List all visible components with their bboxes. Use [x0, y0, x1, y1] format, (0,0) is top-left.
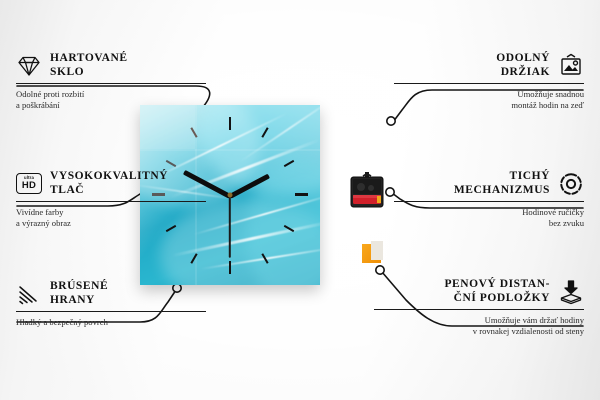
feature-title: VYSOKOKVALITNÝ — [50, 170, 168, 184]
feature-title-2: ČNÍ PODLOŽKY — [444, 292, 550, 306]
feature-desc: Odolné proti rozbití — [16, 89, 206, 100]
connector-dot-foam — [376, 266, 384, 274]
feature-ground-edges: BRÚSENÉ HRANY Hladký a bezpečný povrch — [16, 280, 206, 328]
feature-desc: Hodinové ručičky — [394, 207, 584, 218]
badge-hd-text: HD — [22, 181, 36, 191]
clock-center-cap — [228, 193, 233, 198]
connector-dot-mechanism — [386, 188, 394, 196]
feature-desc: Umožňuje snadnou — [394, 89, 584, 100]
ground-edges-icon — [16, 281, 42, 307]
foam-pad-icon — [558, 279, 584, 305]
feature-desc-2: a výrazný obraz — [16, 218, 206, 229]
feature-title-2: MECHANIZMUS — [454, 184, 550, 198]
feature-title-2: TLAČ — [50, 184, 168, 198]
divider — [394, 201, 584, 202]
divider — [394, 83, 584, 84]
feature-desc: Umožňuje vám držať hodiny — [374, 315, 584, 326]
second-hand — [229, 196, 231, 258]
feature-desc-2: a poškrábání — [16, 100, 206, 111]
feature-title: BRÚSENÉ — [50, 280, 108, 294]
wall-hanger-icon — [558, 53, 584, 79]
divider — [374, 309, 584, 310]
hour-hand — [229, 174, 270, 199]
ultra-hd-badge-icon: ultra HD — [16, 173, 42, 194]
feature-silent-mechanism: TICHÝ MECHANIZMUS Hodinové ručičky bez z… — [394, 170, 584, 228]
feature-desc-2: montáž hodin na zeď — [394, 100, 584, 111]
feature-desc-2: bez zvuku — [394, 218, 584, 229]
feature-title: TICHÝ — [454, 170, 550, 184]
feature-title-2: DRŽIAK — [496, 66, 550, 80]
feature-desc: Vivídne farby — [16, 207, 206, 218]
gear-icon — [558, 171, 584, 197]
feature-desc-2: v rovnakej vzdialenosti od steny — [374, 326, 584, 337]
feature-title-2: HRANY — [50, 294, 108, 308]
divider — [16, 83, 206, 84]
diamond-icon — [16, 53, 42, 79]
feature-title: PENOVÝ DISTAN- — [444, 278, 550, 292]
clock-mechanism — [348, 172, 386, 212]
feature-title: ODOLNÝ — [496, 52, 550, 66]
feature-hd-print: ultra HD VYSOKOKVALITNÝ TLAČ Vivídne far… — [16, 170, 206, 228]
divider — [16, 311, 206, 312]
feature-desc: Hladký a bezpečný povrch — [16, 317, 206, 328]
connector-dot-holder — [387, 117, 395, 125]
feature-foam-pads: PENOVÝ DISTAN- ČNÍ PODLOŽKY Umožňuje vám… — [374, 278, 584, 336]
feature-wall-holder: ODOLNÝ DRŽIAK Umožňuje snadnou montáž ho… — [394, 52, 584, 110]
foam-distance-pad — [362, 244, 381, 263]
feature-title: HARTOVANÉ — [50, 52, 128, 66]
feature-tempered-glass: HARTOVANÉ SKLO Odolné proti rozbití a po… — [16, 52, 206, 110]
divider — [16, 201, 206, 202]
feature-title-2: SKLO — [50, 66, 128, 80]
